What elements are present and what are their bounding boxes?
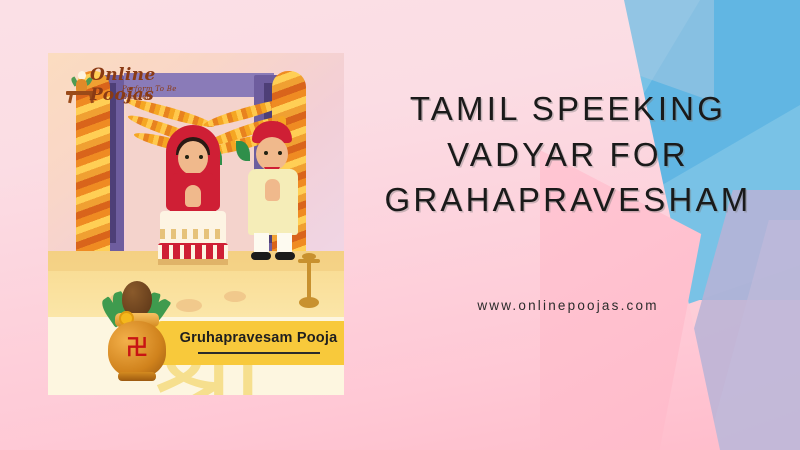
headline-line-3: GRAHAPRAVESHAM [368,177,768,223]
brand-logo[interactable]: Online Poojas Perform To Be Blessed [56,61,204,107]
floor-decor-dot [224,291,246,302]
groom-eye-left [264,151,268,155]
lamp-stem [307,261,311,299]
bride-face [178,141,208,175]
swastika-icon: 卍 [126,337,148,359]
poster-canvas: TAMIL SPEEKING VADYAR FOR GRAHAPRAVESHAM… [0,0,800,450]
page-title: TAMIL SPEEKING VADYAR FOR GRAHAPRAVESHAM [368,86,768,223]
brass-oil-lamp-icon [298,253,320,315]
groom-face [256,137,288,171]
lamp-base [299,297,319,308]
floor-decor-dot [176,299,202,312]
headline-line-2: VADYAR FOR [368,132,768,178]
groom-shoe-right [275,252,295,260]
caption-banner-label: Gruhapravesam Pooja [166,330,344,346]
caption-banner-underline [198,352,320,354]
kalash-foot [118,372,156,381]
bride-lehenga-trim [160,229,226,239]
logo-table-leg [68,94,73,103]
groom-shoe-left [251,252,271,260]
groom-namaste-hands [265,179,280,201]
website-url[interactable]: www.onlinepoojas.com [368,298,768,313]
bride-skirt-pattern [158,245,228,259]
headline-line-1: TAMIL SPEEKING [368,86,768,132]
bride-figure [158,125,228,259]
bride-eye-right [199,155,203,159]
groom-eye-right [278,151,282,155]
bride-eye-left [185,155,189,159]
kalash-icon: 卍 [98,275,176,383]
bride-skirt-border [158,259,228,265]
groom-figure [240,121,306,263]
bride-namaste-hands [185,185,201,207]
logo-tagline: Perform To Be Blessed [122,85,204,101]
promo-image-card: श्री Gruhapravesam Pooja 卍 [48,53,344,395]
